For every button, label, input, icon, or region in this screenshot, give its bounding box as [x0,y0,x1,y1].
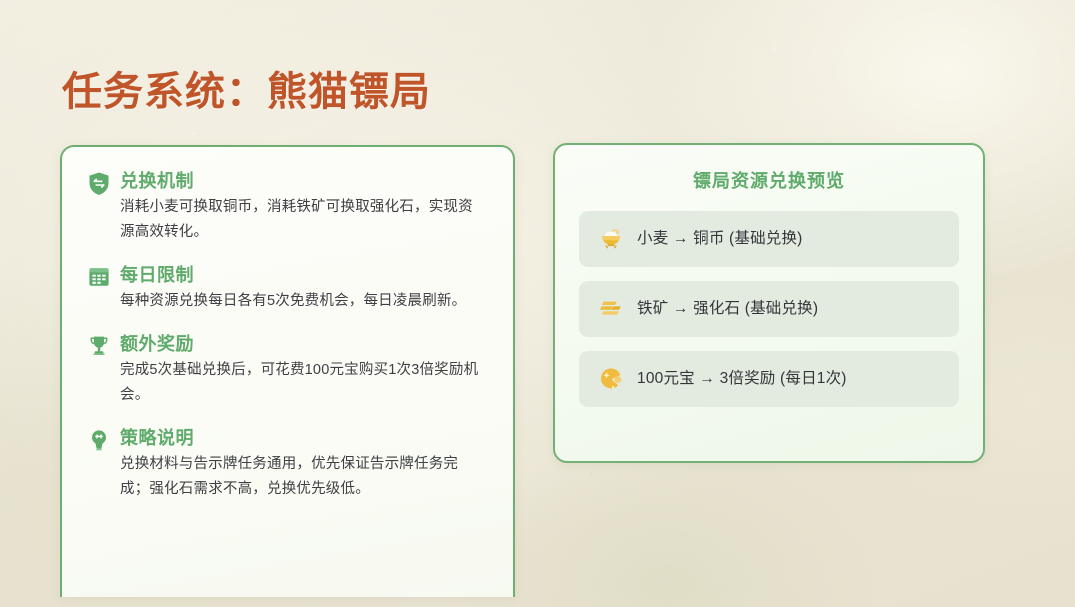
mechanics-card: 兑换机制 消耗小麦可换取铜币，消耗铁矿可换取强化石，实现资源高效转化。 [60,145,515,597]
section-strategy-note: 策略说明 兑换材料与告示牌任务通用，优先保证告示牌任务完成；强化石需求不高，兑换… [86,426,487,502]
section-title: 兑换机制 [120,169,487,193]
trophy-icon [86,333,112,359]
exchange-row-gold-ingot: 100元宝 → 3倍奖励 (每日1次) [579,351,959,407]
exchange-row-wheat: 小麦 → 铜币 (基础兑换) [579,211,959,267]
panel-title: 镖局资源兑换预览 [579,169,959,193]
page-title: 任务系统：熊猫镖局 [62,68,431,116]
exchange-preview-panel: 镖局资源兑换预览 小麦 → 铜币 (基础兑换) 铁矿 → 强化石 ( [553,143,985,463]
shield-exchange-icon [86,170,112,196]
exchange-row-label: 100元宝 → 3倍奖励 (每日1次) [637,368,847,390]
section-text: 消耗小麦可换取铜币，消耗铁矿可换取强化石，实现资源高效转化。 [120,195,487,245]
exchange-row-label: 小麦 → 铜币 (基础兑换) [637,228,803,250]
section-text: 兑换材料与告示牌任务通用，优先保证告示牌任务完成；强化石需求不高，兑换优先级低。 [120,452,487,502]
section-text: 完成5次基础兑换后，可花费100元宝购买1次3倍奖励机会。 [120,358,487,408]
gold-ingot-icon [597,365,625,393]
section-title: 策略说明 [120,426,487,450]
ore-bars-icon [597,295,625,323]
section-daily-limit: 每日限制 每种资源兑换每日各有5次免费机会，每日凌晨刷新。 [86,263,487,314]
section-title: 每日限制 [120,263,487,287]
section-exchange-mechanism: 兑换机制 消耗小麦可换取铜币，消耗铁矿可换取强化石，实现资源高效转化。 [86,169,487,245]
lightbulb-icon [86,427,112,453]
rice-bowl-icon [597,225,625,253]
exchange-row-label: 铁矿 → 强化石 (基础兑换) [637,298,818,320]
section-text: 每种资源兑换每日各有5次免费机会，每日凌晨刷新。 [120,289,487,314]
section-title: 额外奖励 [120,332,487,356]
calendar-icon [86,264,112,290]
exchange-row-iron-ore: 铁矿 → 强化石 (基础兑换) [579,281,959,337]
section-extra-reward: 额外奖励 完成5次基础兑换后，可花费100元宝购买1次3倍奖励机会。 [86,332,487,408]
